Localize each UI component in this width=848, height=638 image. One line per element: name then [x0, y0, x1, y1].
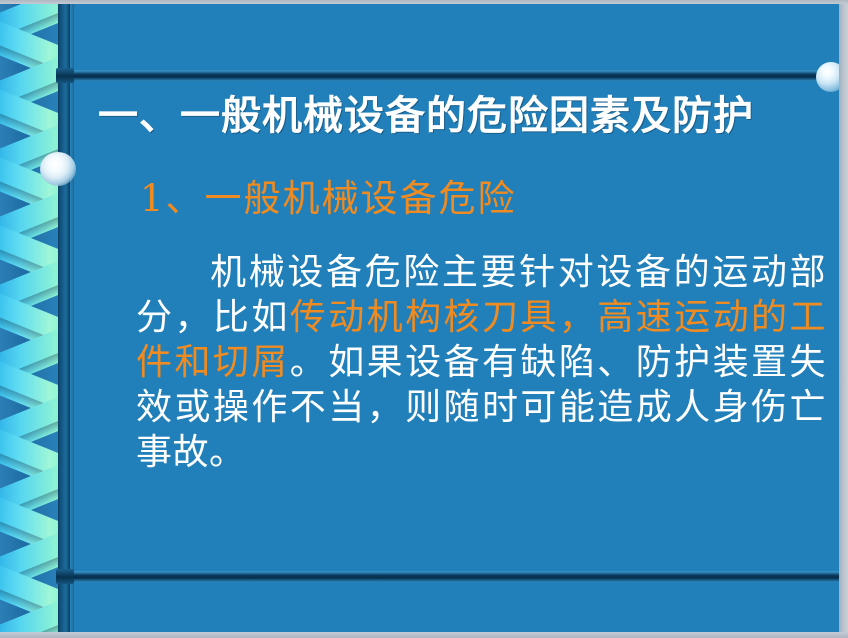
slide-canvas: 一、一般机械设备的危险因素及防护 1、一般机械设备危险 机械设备危险主要针对设备…: [0, 0, 848, 638]
divider-rail-bottom: [60, 571, 839, 582]
slide-subtitle: 1、一般机械设备危险: [140, 178, 517, 221]
ribbon-divider-post-highlight: [70, 0, 74, 638]
divider-rail-top-cap: [56, 68, 74, 83]
divider-rail-bottom-cap: [56, 569, 74, 584]
slide-frame-right-edge: [839, 0, 848, 638]
decorative-ribbon-band: [0, 0, 60, 638]
divider-rail-top: [60, 70, 839, 81]
slide-frame-bottom-edge: [0, 632, 848, 638]
slide-frame-top-edge: [0, 0, 848, 4]
sphere-knob-left-icon: [40, 152, 76, 186]
slide-title: 一、一般机械设备的危险因素及防护: [98, 93, 828, 139]
slide-body-paragraph: 机械设备危险主要针对设备的运动部分，比如传动机构核刀具，高速运动的工件和切屑。如…: [136, 250, 826, 475]
